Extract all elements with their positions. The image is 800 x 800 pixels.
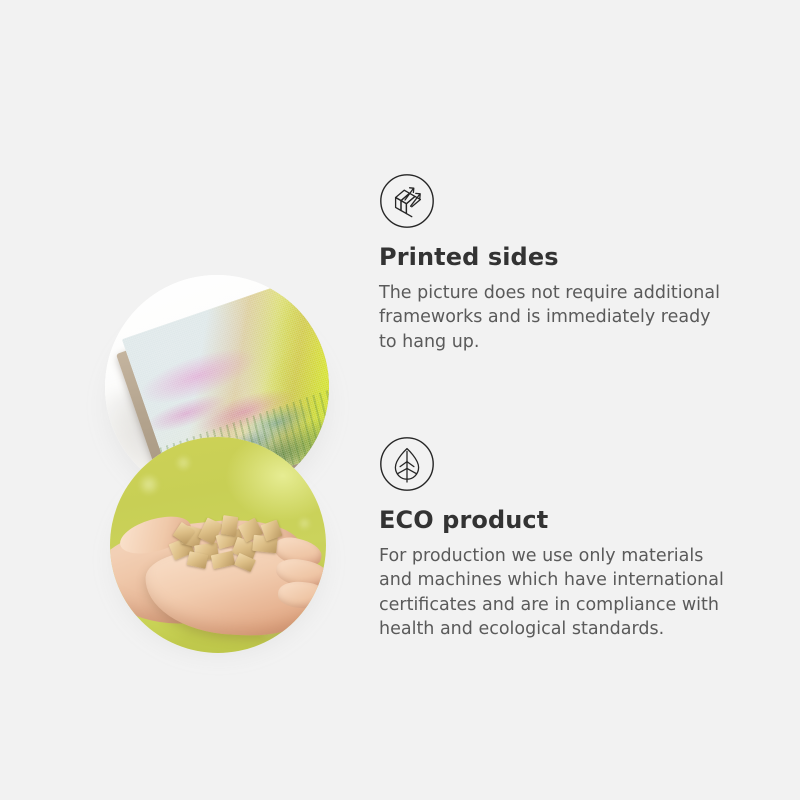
feature-printed-sides: Printed sides The picture does not requi… — [0, 130, 800, 390]
feature-description: The picture does not require additional … — [379, 281, 731, 355]
printed-sides-text-block: Printed sides The picture does not requi… — [379, 173, 739, 354]
feature-title: Printed sides — [379, 243, 739, 272]
wood-chip-pile — [166, 510, 287, 575]
feature-title: ECO product — [379, 506, 739, 535]
meadow-backdrop — [110, 437, 326, 653]
eco-product-icon — [379, 436, 435, 492]
feature-list-page: Printed sides The picture does not requi… — [0, 0, 800, 800]
printed-sides-icon — [379, 173, 435, 229]
wood-chips-photo — [110, 437, 326, 653]
feature-eco-product: ECO product For production we use only m… — [0, 420, 800, 680]
eco-product-text-block: ECO product For production we use only m… — [379, 436, 739, 642]
feature-description: For production we use only materials and… — [379, 544, 731, 642]
